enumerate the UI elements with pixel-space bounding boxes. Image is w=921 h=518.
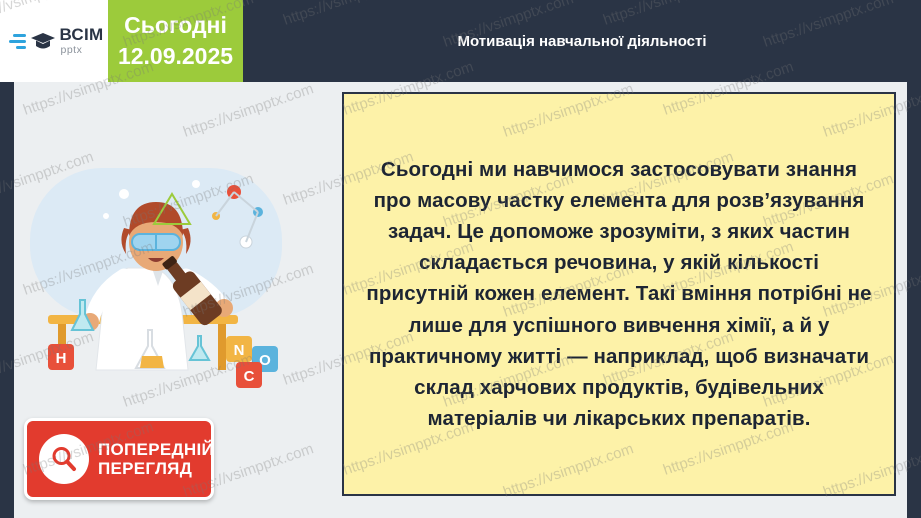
page-title: Мотивація навчальної діяльності (243, 0, 921, 82)
right-sidebar-accent (907, 82, 921, 518)
magnifier-icon (39, 434, 89, 484)
svg-text:N: N (234, 342, 245, 359)
preview-label-line2: ПЕРЕГЛЯД (98, 459, 214, 478)
graduation-cap-icon (30, 31, 56, 51)
left-sidebar-accent (0, 82, 14, 518)
today-label: Сьогодні (124, 12, 227, 39)
brand-logo[interactable]: ВСІМ pptx (0, 0, 108, 82)
date-value: 12.09.2025 (118, 43, 233, 70)
logo-subtitle: pptx (61, 45, 104, 56)
svg-text:H: H (56, 350, 67, 367)
date-badge: Сьогодні 12.09.2025 (108, 0, 243, 82)
slide-root: H N O C Сьогодні ми навчимося застосовув… (0, 0, 921, 518)
speed-lines-icon (9, 34, 26, 49)
preview-button[interactable]: ПОПЕРЕДНІЙ ПЕРЕГЛЯД (24, 418, 214, 500)
logo-title: ВСІМ (60, 26, 104, 43)
preview-label-line1: ПОПЕРЕДНІЙ (98, 440, 214, 459)
chemist-scientist-illustration: H N O C (20, 150, 330, 400)
motivation-text: Сьогодні ми навчимося застосовувати знан… (366, 154, 872, 434)
content-card: Сьогодні ми навчимося застосовувати знан… (342, 92, 896, 496)
svg-text:C: C (244, 368, 255, 385)
